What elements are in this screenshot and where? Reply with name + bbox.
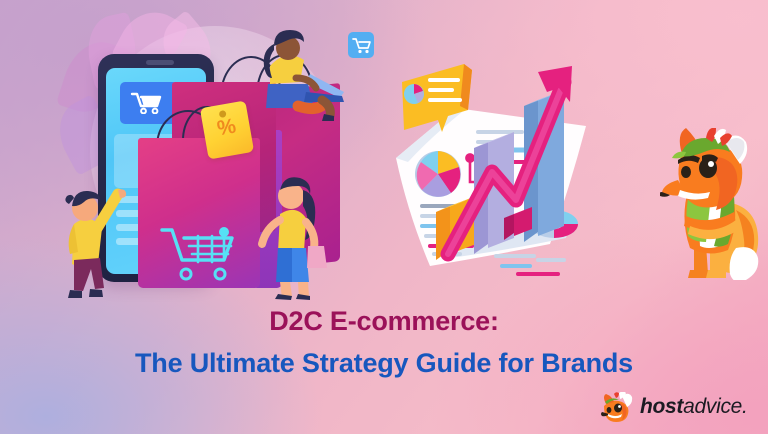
text-lines: [496, 256, 564, 274]
logo-text-light: advice: [683, 395, 742, 418]
cart-outline-icon: [158, 220, 250, 282]
hostadvice-fox-mascot: [660, 128, 765, 280]
logo-text-bold: host: [640, 395, 683, 418]
hostadvice-logo[interactable]: hostadvice.: [600, 392, 748, 422]
woman-with-laptop-figure: [248, 22, 358, 122]
mobile-shopping-illustration: %: [60, 10, 370, 305]
fox-head-icon: [600, 392, 634, 422]
page-title-line-1: D2C E-commerce:: [0, 306, 768, 337]
bubble-pie-icon: [404, 84, 424, 104]
growth-analytics-illustration: [388, 38, 618, 293]
page-title-line-2: The Ultimate Strategy Guide for Brands: [0, 348, 768, 379]
pie-chart: [415, 151, 461, 197]
man-pointing-figure: [60, 160, 130, 300]
shopping-cart-icon: [130, 92, 164, 114]
discount-tag: %: [200, 100, 254, 159]
phone-speaker: [146, 60, 174, 65]
cart-badge-icon: [348, 32, 374, 58]
discount-tag-label: %: [202, 112, 251, 144]
banner-root: %: [0, 0, 768, 434]
woman-shopper-figure: [256, 160, 330, 300]
logo-text: hostadvice.: [640, 395, 748, 419]
logo-text-dot: .: [742, 395, 748, 418]
